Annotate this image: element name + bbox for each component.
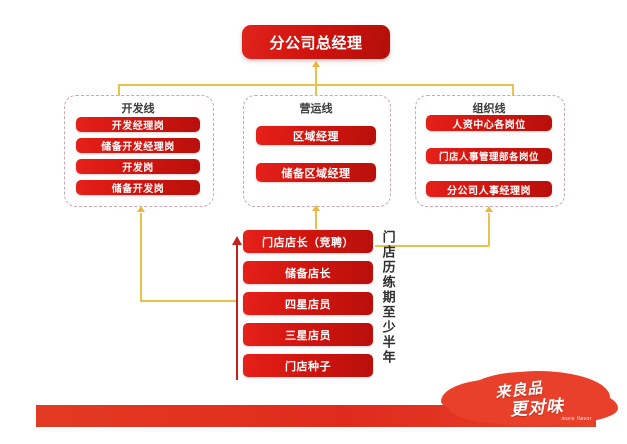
node-development-post[interactable]: 开发岗 — [76, 159, 200, 174]
node-store-manager-competitive[interactable]: 门店店长（竞聘） — [243, 230, 373, 253]
gold-link-store-to-operations — [315, 210, 317, 229]
node-three-star-clerk[interactable]: 三星店员 — [243, 323, 373, 346]
gold-arrow-to-top-node — [312, 61, 320, 67]
node-reserve-store-manager[interactable]: 储备店长 — [243, 261, 373, 284]
gold-drop-right — [512, 84, 514, 96]
node-label: 分公司总经理 — [269, 32, 362, 53]
gold-link-store-to-development-horizontal — [140, 300, 238, 302]
node-branch-general-manager[interactable]: 分公司总经理 — [242, 25, 390, 59]
group-title-operations-line: 营运线 — [243, 100, 389, 116]
node-hr-center-posts[interactable]: 人资中心各岗位 — [426, 115, 552, 131]
red-progression-shaft — [236, 244, 238, 380]
org-chart-canvas: 分公司总经理 开发线 开发经理岗 储备开发经理岗 开发岗 储备开发岗 营运线 区… — [0, 0, 627, 444]
gold-link-store-to-organization-vertical — [488, 213, 490, 246]
group-title-development-line: 开发线 — [64, 100, 212, 116]
red-progression-arrowhead — [232, 236, 242, 245]
node-reserve-development-manager[interactable]: 储备开发经理岗 — [76, 138, 200, 153]
group-title-organization-line: 组织线 — [415, 100, 563, 116]
gold-trunk-vertical — [315, 66, 317, 84]
gold-link-store-to-development-vertical — [140, 213, 142, 301]
gold-arrow-to-organization-line — [485, 206, 493, 212]
store-training-period-note: 门店历练期至少半年 — [381, 230, 395, 380]
gold-arrow-to-operations-line — [312, 205, 320, 211]
gold-drop-left — [118, 84, 120, 96]
node-store-hr-department-posts[interactable]: 门店人事管理部各岗位 — [426, 148, 552, 164]
node-four-star-clerk[interactable]: 四星店员 — [243, 292, 373, 315]
node-branch-hr-manager[interactable]: 分公司人事经理岗 — [426, 181, 552, 197]
node-regional-manager[interactable]: 区域经理 — [256, 126, 376, 145]
node-reserve-regional-manager[interactable]: 储备区域经理 — [256, 163, 376, 182]
node-reserve-development-post[interactable]: 储备开发岗 — [76, 180, 200, 195]
node-development-manager[interactable]: 开发经理岗 — [76, 117, 200, 132]
gold-drop-middle — [315, 84, 317, 96]
gold-arrow-to-development-line — [137, 206, 145, 212]
brand-subtitle: more flavor — [561, 416, 592, 422]
node-store-seed[interactable]: 门店种子 — [243, 354, 373, 377]
brand-logo: 来良品 更对味 more flavor — [458, 372, 600, 426]
brand-line-2: 更对味 — [509, 392, 565, 421]
